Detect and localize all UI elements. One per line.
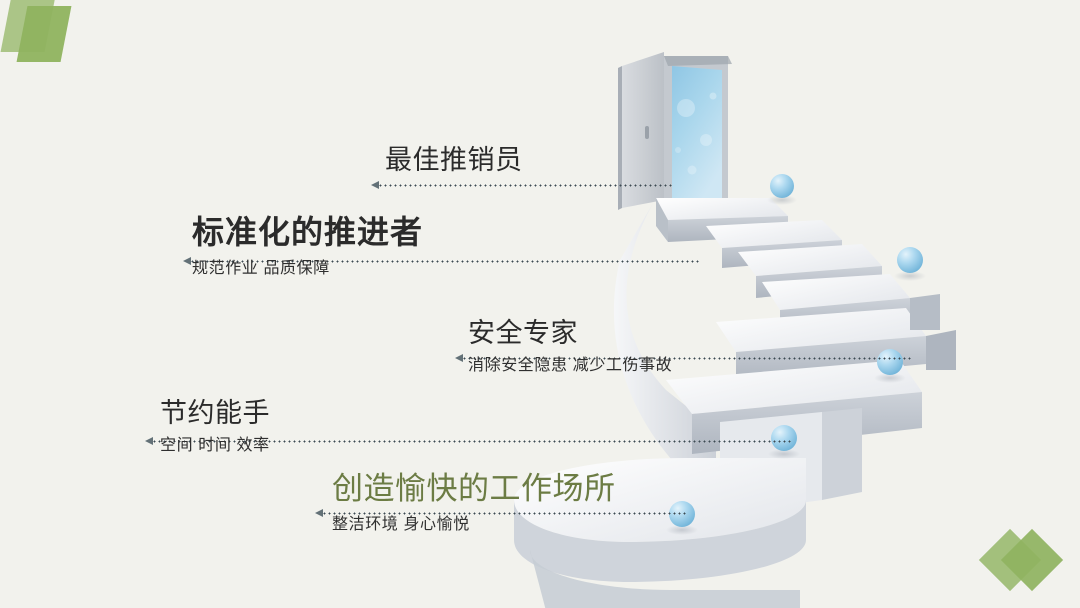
green-diamonds-decoration xyxy=(980,520,1070,600)
label-group-step-3: 安全专家 消除安全隐患 减少工伤事故 xyxy=(468,318,672,375)
label-group-step-4: 标准化的推进者 规范作业 品质保障 xyxy=(192,215,423,277)
slide-canvas: 最佳推销员 标准化的推进者 规范作业 品质保障 安全专家 消除安全隐患 减少工伤… xyxy=(0,0,1080,608)
sphere-step-4 xyxy=(897,247,923,273)
step-subtitle-step-3: 消除安全隐患 减少工伤事故 xyxy=(468,357,672,375)
sphere-step-3 xyxy=(877,349,903,375)
label-group-step-1: 创造愉快的工作场所 整洁环境 身心愉悦 xyxy=(332,472,616,533)
arrow-left-icon xyxy=(315,509,323,517)
step-title-step-1: 创造愉快的工作场所 xyxy=(332,472,616,507)
step-title-step-4: 标准化的推进者 xyxy=(192,215,423,251)
green-parallelograms-decoration xyxy=(0,0,90,70)
arrow-left-icon xyxy=(371,181,379,189)
sphere-step-5 xyxy=(770,174,794,198)
parallelogram-front xyxy=(17,6,72,62)
arrow-left-icon xyxy=(183,257,191,265)
step-title-step-3: 安全专家 xyxy=(468,318,672,348)
arrow-left-icon xyxy=(455,354,463,362)
arrow-left-icon xyxy=(145,437,153,445)
label-group-step-5: 最佳推销员 xyxy=(385,145,523,175)
step-title-step-5: 最佳推销员 xyxy=(385,145,523,175)
step-subtitle-step-1: 整洁环境 身心愉悦 xyxy=(332,516,616,534)
step-subtitle-step-2: 空间 时间 效率 xyxy=(160,437,270,455)
label-group-step-2: 节约能手 空间 时间 效率 xyxy=(160,398,270,455)
connector-line-step-5 xyxy=(378,184,673,187)
step-subtitle-step-4: 规范作业 品质保障 xyxy=(192,260,423,278)
step-spheres xyxy=(666,174,926,535)
sphere-step-2 xyxy=(771,425,797,451)
step-title-step-2: 节约能手 xyxy=(160,398,270,428)
